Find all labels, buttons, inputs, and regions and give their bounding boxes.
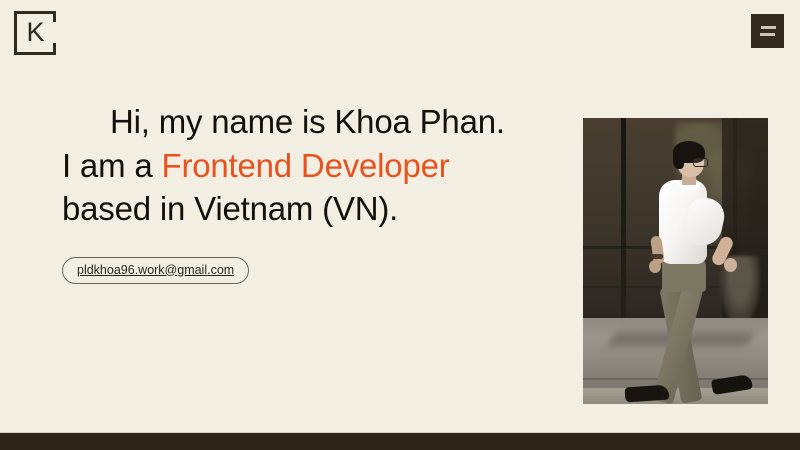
hamburger-menu-icon[interactable] [751,14,784,48]
storefront-background [583,118,768,404]
page-root: K Hi, my name is Khoa Phan. I am a Front… [0,0,800,450]
hair-sideburn [673,152,684,169]
hand-back [649,260,661,273]
menu-bar-bottom [760,33,775,36]
hero-section: Hi, my name is Khoa Phan. I am a Fronten… [62,100,522,284]
shoe-back [625,384,670,402]
wrist-band [651,254,663,259]
walking-man [583,118,768,404]
shoe-front [711,374,753,395]
khoa-logo[interactable]: K [14,11,56,55]
logo-letter: K [14,11,56,55]
site-header: K [0,0,800,62]
headline-line-2-prefix: I am a [62,147,161,184]
headline-line-3: based in Vietnam (VN). [62,190,398,227]
menu-bar-top [761,26,776,29]
headline-role-accent: Frontend Developer [161,147,449,184]
profile-photo [583,118,768,404]
hand-front [724,258,737,272]
footer-bar [0,433,800,450]
email-pill[interactable]: pldkhoa96.work@gmail.com [62,257,249,285]
glasses-icon [693,158,708,167]
page-title: Hi, my name is Khoa Phan. I am a Fronten… [62,100,522,231]
headline-line-1: Hi, my name is Khoa Phan. [110,103,505,140]
